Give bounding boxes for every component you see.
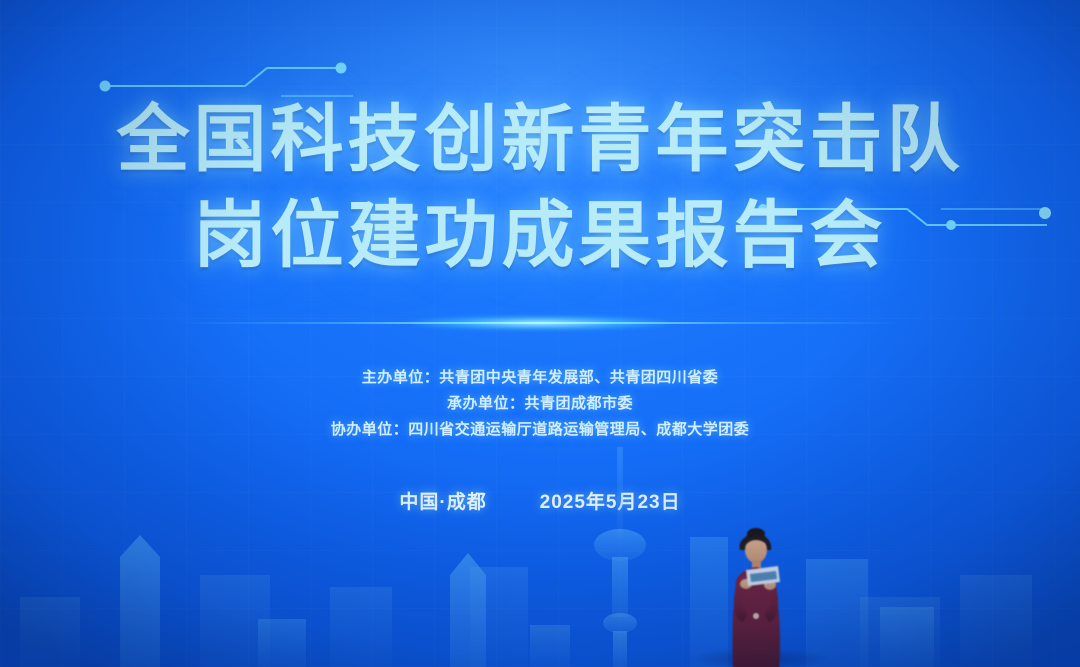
organizer-line-undertaker: 承办单位：共青团成都市委: [0, 391, 1080, 417]
divider-bar: [180, 322, 900, 324]
host-brooch: [753, 613, 759, 619]
venue-label: 中国·成都: [399, 492, 486, 513]
host-hand-right: [764, 580, 776, 590]
tv-tower-silhouette: [594, 447, 646, 667]
date-label: 2025年5月23日: [540, 492, 681, 513]
stage-backdrop: 全国科技创新青年突击队 岗位建功成果报告会 主办单位：共青团中央青年发展部、共青…: [0, 0, 1080, 667]
page-title-line-2: 岗位建功成果报告会: [0, 188, 1080, 284]
divider-glow-core: [410, 316, 670, 330]
glowing-divider: [180, 316, 900, 330]
host-hand-left: [740, 579, 752, 589]
page-title-line-1: 全国科技创新青年突击队: [0, 92, 1080, 188]
organizer-line-host: 主办单位：共青团中央青年发展部、共青团四川省委: [0, 365, 1080, 391]
script-card: [746, 566, 780, 586]
host-dress: [733, 567, 781, 667]
title-block: 全国科技创新青年突击队 岗位建功成果报告会: [0, 92, 1080, 284]
organizer-line-coorganizer: 协办单位：四川省交通运输厅道路运输管理局、成都大学团委: [0, 417, 1080, 443]
host-floor-shadow: [690, 648, 830, 667]
venue-date-block: 中国·成都 2025年5月23日: [0, 487, 1080, 514]
host-hair: [740, 533, 772, 550]
city-skyline-silhouette: [0, 447, 1080, 667]
host-face: [745, 537, 767, 563]
host-silhouette: [706, 522, 804, 667]
organizer-block: 主办单位：共青团中央青年发展部、共青团四川省委 承办单位：共青团成都市委 协办单…: [0, 365, 1080, 443]
host-figure: [712, 528, 798, 667]
